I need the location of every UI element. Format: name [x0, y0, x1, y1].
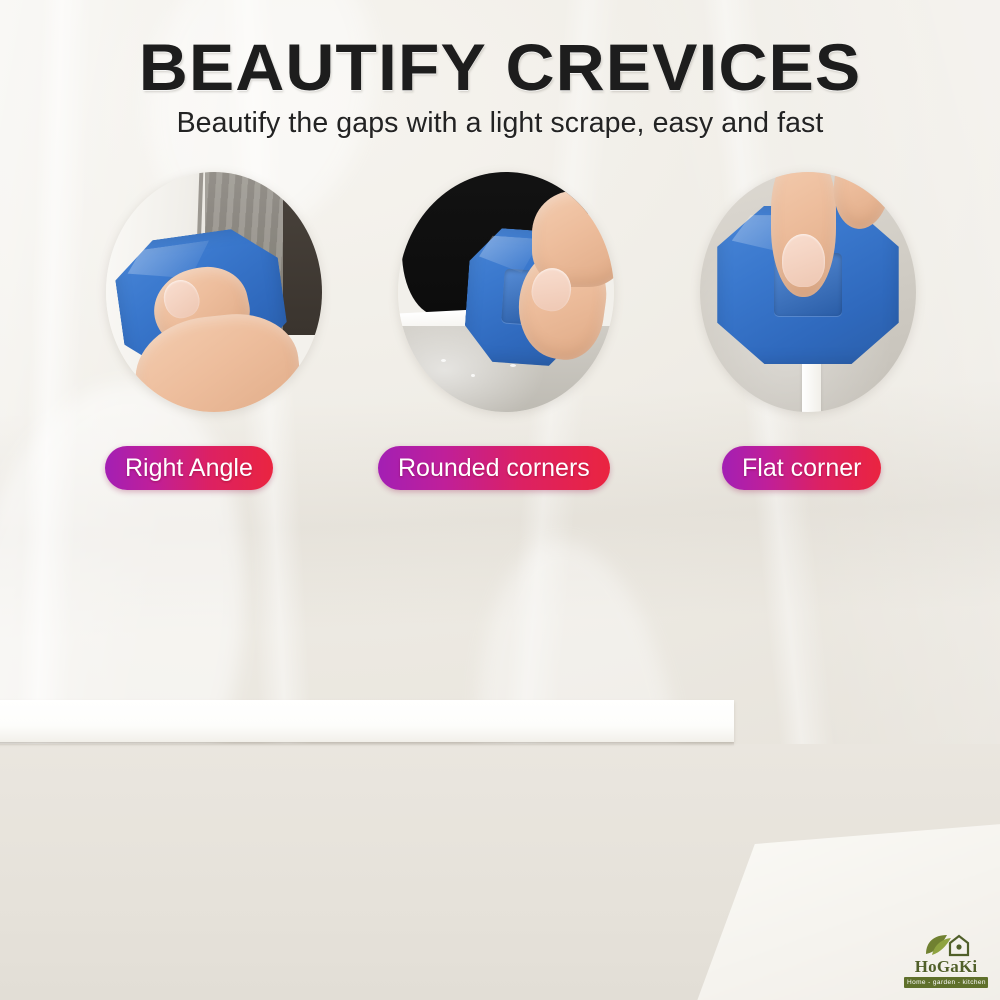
label-flat-corner[interactable]: Flat corner — [722, 446, 881, 490]
showcase-photo-flat-corner — [700, 172, 916, 412]
page-title: BEAUTIFY CREVICES — [0, 0, 1000, 101]
fingernail — [782, 234, 825, 287]
product-infographic: BEAUTIFY CREVICES Beautify the gaps with… — [0, 0, 1000, 1000]
showcase-label-row: Right Angle Rounded corners Flat corner — [0, 446, 1000, 494]
watermark-logo: HoGaKi Home - garden - kitchen — [904, 932, 988, 992]
hero-caulk-bead — [0, 700, 734, 742]
hero-scene: 30 10 20 — [0, 500, 1000, 1000]
photo-scene — [106, 172, 322, 412]
showcase-photo-right-angle — [106, 172, 322, 412]
showcase-photo-rounded-corners — [398, 172, 614, 412]
dark-wall-panel — [283, 172, 322, 335]
header: BEAUTIFY CREVICES Beautify the gaps with… — [0, 0, 1000, 140]
label-right-angle[interactable]: Right Angle — [105, 446, 273, 490]
label-rounded-corners[interactable]: Rounded corners — [378, 446, 610, 490]
watermark-name: HoGaKi — [904, 958, 988, 975]
watermark-tagline: Home - garden - kitchen — [904, 977, 988, 988]
page-subtitle: Beautify the gaps with a light scrape, e… — [0, 107, 1000, 140]
showcase-circle-row — [0, 172, 1000, 420]
photo-scene — [398, 172, 614, 412]
photo-scene — [700, 172, 916, 412]
leaf-house-icon — [904, 932, 988, 958]
